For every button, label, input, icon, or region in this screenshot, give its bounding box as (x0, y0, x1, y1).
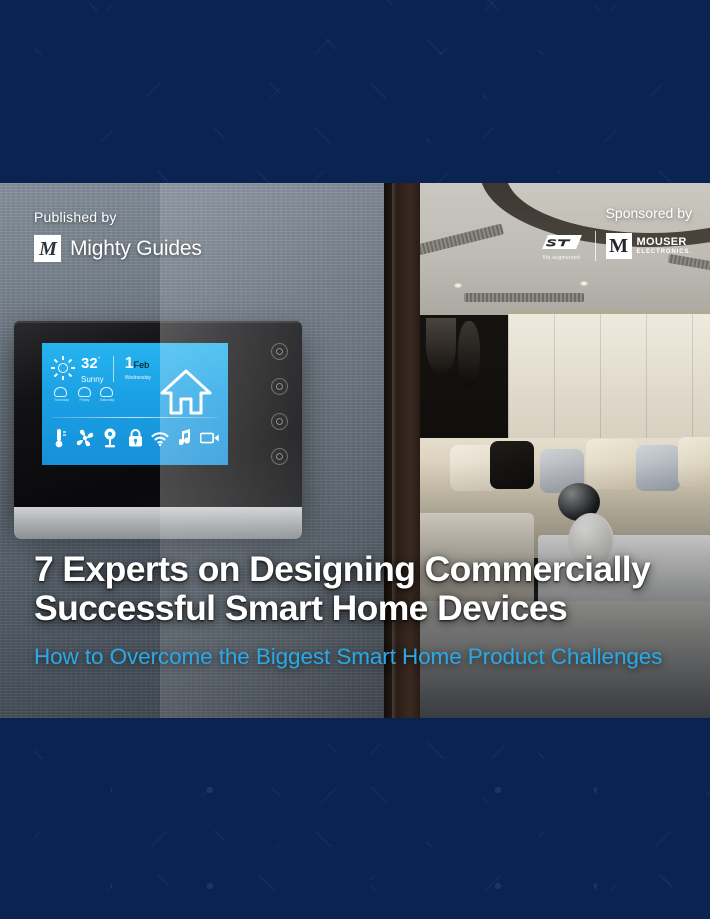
sponsored-by-block: Sponsored by life.augmented M (539, 205, 692, 261)
sponsor-logos: life.augmented M MOUSER ELECTRONICS. (539, 231, 692, 261)
lamp-icon[interactable] (100, 427, 120, 449)
status-divider (113, 356, 114, 382)
fan-icon[interactable] (75, 427, 95, 449)
sun-icon (54, 387, 67, 397)
day-number: 1 (125, 355, 134, 372)
st-tagline: life.augmented (543, 255, 580, 261)
published-by-block: Published by M Mighty Guides (34, 209, 202, 262)
degree-symbol: ° (98, 357, 101, 364)
published-by-label: Published by (34, 209, 202, 225)
page-title: 7 Experts on Designing CommerciallySucce… (34, 550, 694, 630)
mouser-name: MOUSER (637, 237, 692, 248)
panel-screen[interactable]: 32° Sunny 1Feb Wednesday Thursday (42, 343, 228, 465)
cover-page: 32° Sunny 1Feb Wednesday Thursday (0, 0, 710, 919)
sun-icon (52, 357, 74, 379)
sponsored-by-label: Sponsored by (539, 205, 692, 221)
forecast-item: Thursday (54, 387, 69, 402)
thermometer-icon[interactable] (50, 427, 70, 449)
st-mark-icon (539, 232, 585, 254)
forecast-day-label: Thursday (54, 398, 69, 402)
st-logo[interactable]: life.augmented (539, 232, 585, 261)
cloud-icon (100, 387, 113, 397)
month-label: Feb (134, 360, 150, 370)
sponsor-divider (595, 231, 596, 261)
forecast-item: Saturday (100, 387, 114, 402)
house-icon[interactable] (160, 367, 212, 417)
title-line-1: 7 Experts on Designing Commercially (34, 549, 650, 589)
panel-side-buttons (271, 343, 288, 465)
page-subtitle: How to Overcome the Biggest Smart Home P… (34, 644, 694, 670)
mighty-guides-mark-icon: M (34, 235, 61, 262)
forecast-item: Friday (78, 387, 91, 402)
cloud-sun-icon (78, 387, 91, 397)
mouser-subtitle: ELECTRONICS. (637, 249, 692, 255)
mute-icon[interactable] (271, 378, 288, 395)
mouser-wordmark: MOUSER ELECTRONICS. (637, 237, 692, 255)
mighty-guides-mark-letter: M (39, 239, 56, 259)
title-block: 7 Experts on Designing CommerciallySucce… (34, 550, 694, 671)
control-icon-row (50, 427, 220, 449)
mouser-mark-letter: M (609, 236, 628, 256)
forecast-day-label: Saturday (100, 398, 114, 402)
screen-separator (52, 417, 218, 418)
mouser-mark-icon: M (606, 233, 632, 259)
temperature-value: 32 (81, 355, 98, 372)
weather-condition: Sunny (81, 375, 104, 384)
mouser-logo[interactable]: M MOUSER ELECTRONICS. (606, 233, 692, 259)
volume-icon[interactable] (271, 413, 288, 430)
weekday-label: Wednesday (125, 375, 151, 381)
screen-status-row: 32° Sunny 1Feb Wednesday (52, 355, 151, 384)
title-line-2: Successful Smart Home Devices (34, 588, 567, 628)
forecast-day-label: Friday (78, 398, 91, 402)
video-camera-icon[interactable] (200, 427, 220, 449)
mighty-guides-logo[interactable]: M Mighty Guides (34, 235, 202, 262)
cover-banner: 32° Sunny 1Feb Wednesday Thursday (0, 183, 710, 718)
bell-icon[interactable] (271, 448, 288, 465)
wifi-icon[interactable] (150, 427, 170, 449)
date-readout: 1Feb Wednesday (125, 355, 151, 381)
temperature-readout: 32° Sunny (81, 355, 104, 384)
mighty-guides-wordmark: Mighty Guides (70, 237, 202, 261)
lock-icon[interactable] (125, 427, 145, 449)
panel-base (14, 507, 302, 539)
music-note-icon[interactable] (175, 427, 195, 449)
smart-home-panel[interactable]: 32° Sunny 1Feb Wednesday Thursday (14, 321, 302, 521)
power-icon[interactable] (271, 343, 288, 360)
forecast-row: Thursday Friday Saturday (54, 387, 114, 402)
